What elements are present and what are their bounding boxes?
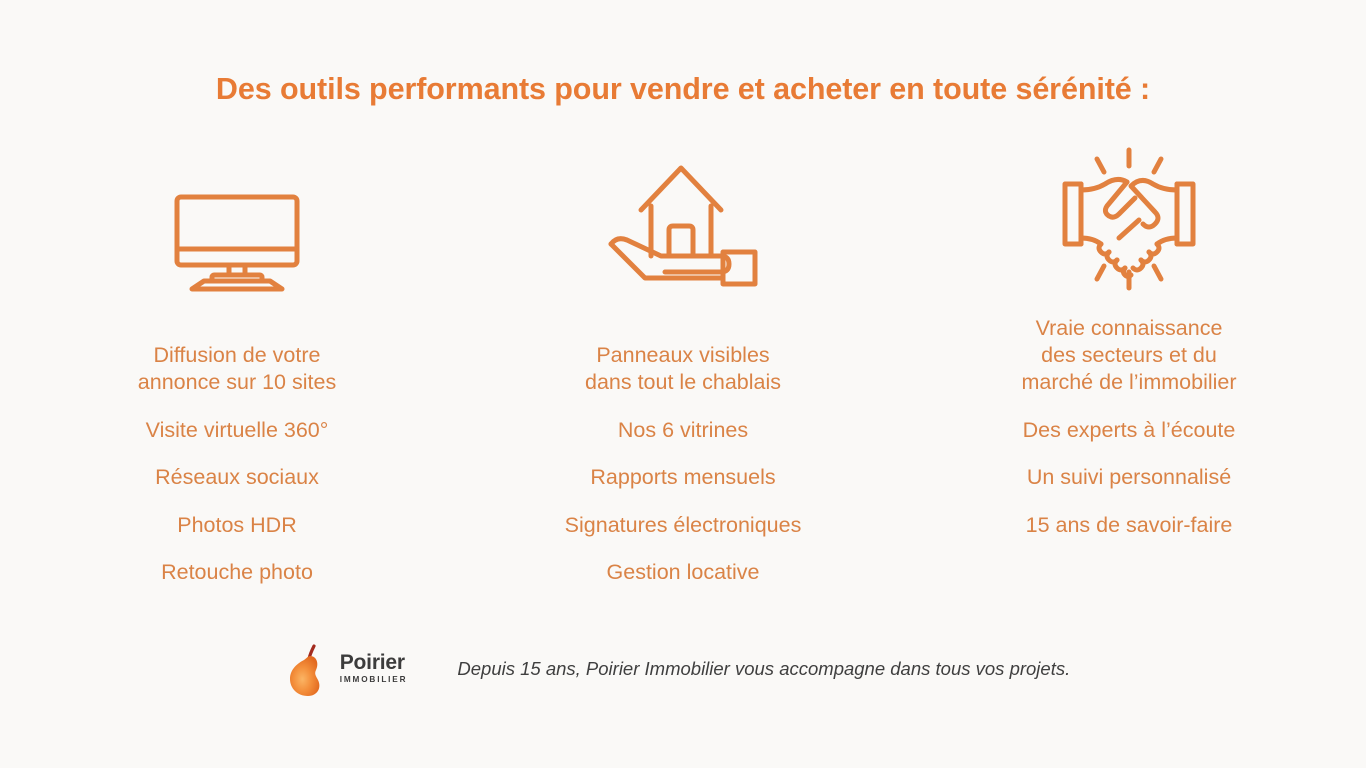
feature-item: Retouche photo [161, 559, 313, 586]
feature-item: Des experts à l’écoute [1023, 417, 1236, 444]
house-in-hand-icon-slot [460, 140, 906, 292]
handshake-icon-slot [906, 140, 1352, 292]
brand-name: Poirier [340, 653, 408, 673]
footer-tagline: Depuis 15 ans, Poirier Immobilier vous a… [457, 658, 1070, 680]
features-section: Diffusion de votre annonce sur 10 sites … [0, 140, 1366, 590]
footer: Poirier IMMOBILIER Depuis 15 ans, Poirie… [0, 640, 1366, 698]
feature-item: Visite virtuelle 360° [146, 417, 329, 444]
feature-item: Photos HDR [177, 512, 297, 539]
handshake-icon [1059, 146, 1199, 292]
page-title: Des outils performants pour vendre et ac… [0, 72, 1366, 107]
feature-item: Nos 6 vitrines [618, 417, 748, 444]
feature-item: Rapports mensuels [590, 464, 775, 491]
feature-item: Diffusion de votre annonce sur 10 sites [138, 342, 336, 396]
brand-subtitle: IMMOBILIER [340, 674, 408, 685]
monitor-icon-slot [14, 140, 460, 292]
brand-logo: Poirier IMMOBILIER [284, 640, 408, 698]
feature-item: Réseaux sociaux [155, 464, 319, 491]
feature-item: Vraie connaissance des secteurs et du ma… [1021, 315, 1236, 396]
feature-item: Panneaux visibles dans tout le chablais [585, 342, 781, 396]
feature-column-panneaux: Panneaux visibles dans tout le chablais … [460, 140, 906, 607]
feature-item: Un suivi personnalisé [1027, 464, 1231, 491]
monitor-icon [172, 192, 302, 292]
feature-item: Gestion locative [607, 559, 760, 586]
feature-column-connaissance: Vraie connaissance des secteurs et du ma… [906, 140, 1352, 559]
feature-list-3: Vraie connaissance des secteurs et du ma… [906, 315, 1352, 559]
feature-list-1: Diffusion de votre annonce sur 10 sites … [14, 342, 460, 607]
pear-logo-icon [284, 640, 336, 698]
feature-item: 15 ans de savoir-faire [1026, 512, 1233, 539]
feature-list-2: Panneaux visibles dans tout le chablais … [460, 342, 906, 607]
feature-item: Signatures électroniques [565, 512, 802, 539]
feature-column-diffusion: Diffusion de votre annonce sur 10 sites … [14, 140, 460, 607]
house-in-hand-icon [603, 160, 763, 292]
brand-text: Poirier IMMOBILIER [340, 653, 408, 685]
